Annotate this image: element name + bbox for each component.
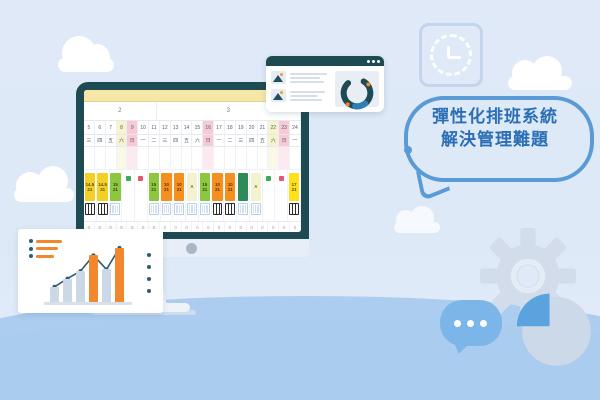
weekday-cell: 四 [171, 135, 182, 146]
shift-column[interactable]: 1721 [288, 170, 301, 221]
spacer-cell [268, 147, 279, 169]
empty-cell [126, 173, 131, 201]
window-dot-icon[interactable] [377, 60, 380, 63]
clock-minute-hand [448, 56, 461, 59]
shift-column[interactable]: 14.521 [84, 170, 97, 221]
spacer-cell [182, 147, 193, 169]
day-number-cell[interactable]: 23 [279, 121, 290, 134]
spacer-cell [258, 147, 269, 169]
shift-detail-block[interactable] [251, 203, 261, 215]
weekday-cell: 日 [279, 135, 290, 146]
weekday-cell: 二 [225, 135, 236, 146]
speech-line-1: 彈性化排班系統 [404, 106, 586, 129]
status-dot [138, 176, 143, 181]
shift-chip[interactable]: 1521 [149, 173, 159, 201]
empty-cell [266, 173, 271, 201]
shift-chip[interactable]: 1521 [110, 173, 120, 201]
spacer-cell [127, 147, 138, 169]
chat-bubble-icon [440, 300, 502, 346]
status-dot [266, 176, 271, 181]
spacer-cell [203, 147, 214, 169]
shift-detail-block[interactable] [98, 203, 108, 215]
day-number-cell[interactable]: 16 [203, 121, 214, 134]
spacer-cell [214, 147, 225, 169]
shift-column[interactable]: 1021 [224, 170, 237, 221]
footer-count-cell: 0 [225, 222, 236, 232]
weekday-cell: 六 [192, 135, 203, 146]
monitor-power-button[interactable] [186, 243, 197, 254]
weekday-cell: 日 [127, 135, 138, 146]
shift-chip[interactable]: 1521 [200, 173, 210, 201]
footer-count-cell: 0 [171, 222, 182, 232]
day-number-cell[interactable]: 22 [268, 121, 279, 134]
day-number-cell[interactable]: 11 [149, 121, 160, 134]
shift-column[interactable]: A [250, 170, 263, 221]
shift-detail-block[interactable] [85, 203, 95, 215]
day-number-cell[interactable]: 12 [160, 121, 171, 134]
pie-chart-icon [510, 285, 596, 371]
shift-chip[interactable]: A [251, 173, 261, 201]
image-icon [271, 71, 286, 84]
day-number-cell[interactable]: 14 [182, 121, 193, 134]
shift-chip[interactable]: 14.521 [97, 173, 107, 201]
status-dot [279, 176, 284, 181]
popup-window-card[interactable] [266, 56, 384, 112]
day-number-cell[interactable]: 24 [290, 121, 301, 134]
shift-column[interactable]: 1021 [161, 170, 174, 221]
spacer-cell [106, 147, 117, 169]
spacer-cell [171, 147, 182, 169]
schedule-day-number-row: 56789101112131415161718192021222324 [84, 121, 301, 135]
shift-chip[interactable]: 1021 [174, 173, 184, 201]
shift-detail-block[interactable] [225, 203, 235, 215]
chart-bar [50, 287, 59, 303]
month-group-1: 2 [84, 102, 157, 120]
bar-chart-card[interactable] [18, 229, 163, 313]
shift-detail-block[interactable] [174, 203, 184, 215]
spacer-cell [84, 147, 95, 169]
shift-chip[interactable]: 1021 [212, 173, 222, 201]
empty-cell [138, 173, 143, 201]
window-dot-icon[interactable] [372, 60, 375, 63]
list-item[interactable] [271, 71, 330, 84]
day-number-cell[interactable]: 20 [247, 121, 258, 134]
spacer-cell [290, 147, 301, 169]
day-number-cell[interactable]: 13 [171, 121, 182, 134]
popup-item-list [271, 71, 330, 107]
chart-bar [102, 269, 111, 303]
chart-bar [76, 271, 85, 303]
spacer-cell [138, 147, 149, 169]
spacer-cell [160, 147, 171, 169]
schedule-spacer-row [84, 147, 301, 170]
status-dot [126, 176, 131, 181]
shift-column[interactable]: 1021 [173, 170, 186, 221]
illustration-canvas: 彈性化排班系統 解決管理難題 2020/02 2 3 5678910111213… [0, 0, 600, 400]
bar-chart-plot [48, 245, 126, 303]
spacer-cell [149, 147, 160, 169]
weekday-cell: 三 [160, 135, 171, 146]
footer-count-cell: 0 [203, 222, 214, 232]
weekday-cell: 五 [182, 135, 193, 146]
weekday-cell: 五 [106, 135, 117, 146]
text-lines [290, 89, 330, 101]
day-number-cell[interactable]: 7 [106, 121, 117, 134]
weekday-cell: 六 [117, 135, 128, 146]
day-number-cell[interactable]: 15 [192, 121, 203, 134]
footer-count-cell: 0 [290, 222, 301, 232]
shift-chip[interactable]: 14.521 [85, 173, 95, 201]
chart-bar [89, 255, 98, 303]
list-item[interactable] [271, 89, 330, 102]
speech-line-2: 解決管理難題 [404, 129, 586, 152]
footer-count-cell: 0 [192, 222, 203, 232]
schedule-weekday-row: 三四五六日一二三四五六日一二三四五六日一 [84, 135, 301, 147]
clock-face [430, 34, 472, 76]
clock-icon [419, 23, 483, 87]
weekday-cell: 三 [236, 135, 247, 146]
weekday-cell: 六 [268, 135, 279, 146]
legend-bullet-icon [29, 239, 33, 243]
spacer-cell [236, 147, 247, 169]
day-number-cell[interactable]: 21 [258, 121, 269, 134]
shift-chip[interactable]: A [187, 173, 197, 201]
side-dot-icon [147, 265, 151, 269]
day-number-cell[interactable]: 19 [236, 121, 247, 134]
chart-side-dots [147, 253, 151, 293]
legend-bullet-icon [29, 247, 33, 251]
shift-detail-block[interactable] [149, 203, 159, 215]
shift-column[interactable]: 1521 [199, 170, 212, 221]
spacer-cell [279, 147, 290, 169]
shift-chip[interactable] [238, 173, 248, 201]
shift-column[interactable] [275, 170, 288, 221]
shift-column[interactable] [237, 170, 250, 221]
spacer-cell [247, 147, 258, 169]
shift-column[interactable]: 14.521 [97, 170, 110, 221]
legend-bullet-icon [29, 254, 33, 258]
chart-axis [44, 302, 132, 305]
day-number-cell[interactable]: 17 [214, 121, 225, 134]
day-number-cell[interactable]: 9 [127, 121, 138, 134]
weekday-cell: 一 [290, 135, 301, 146]
weekday-cell: 四 [247, 135, 258, 146]
side-dot-icon [147, 277, 151, 281]
weekday-cell: 四 [95, 135, 106, 146]
shift-detail-block[interactable] [289, 203, 299, 215]
day-number-cell[interactable]: 10 [138, 121, 149, 134]
spacer-cell [117, 147, 128, 169]
shift-column[interactable] [135, 170, 148, 221]
shift-column[interactable] [122, 170, 135, 221]
popup-titlebar [266, 56, 384, 66]
footer-count-cell: 0 [182, 222, 193, 232]
footer-count-cell: 0 [268, 222, 279, 232]
shift-column[interactable]: A [186, 170, 199, 221]
chart-bar [63, 279, 72, 303]
weekday-cell: 二 [149, 135, 160, 146]
day-number-cell[interactable]: 8 [117, 121, 128, 134]
footer-count-cell: 0 [236, 222, 247, 232]
image-icon [271, 89, 286, 102]
shift-detail-block[interactable] [238, 203, 248, 215]
shift-chip[interactable]: 1721 [289, 173, 299, 201]
shift-chip[interactable]: 1021 [225, 173, 235, 201]
footer-count-cell: 0 [214, 222, 225, 232]
footer-count-cell: 0 [247, 222, 258, 232]
spacer-cell [95, 147, 106, 169]
footer-count-cell: 0 [258, 222, 269, 232]
day-number-cell[interactable]: 5 [84, 121, 95, 134]
empty-cell [279, 173, 284, 201]
shift-column[interactable]: 1521 [110, 170, 123, 221]
shift-detail-block[interactable] [110, 203, 120, 215]
side-dot-icon [147, 289, 151, 293]
spacer-cell [192, 147, 203, 169]
day-number-cell[interactable]: 6 [95, 121, 106, 134]
spacer-cell [225, 147, 236, 169]
shift-column[interactable]: 1521 [148, 170, 161, 221]
shift-detail-block[interactable] [187, 203, 197, 215]
chart-bar [115, 248, 124, 303]
shift-chip[interactable]: 1021 [161, 173, 171, 201]
weekday-cell: 一 [138, 135, 149, 146]
day-number-cell[interactable]: 18 [225, 121, 236, 134]
weekday-cell: 一 [214, 135, 225, 146]
weekday-cell: 五 [258, 135, 269, 146]
speech-bubble-text: 彈性化排班系統 解決管理難題 [404, 106, 586, 152]
footer-count-cell: 0 [279, 222, 290, 232]
shift-detail-block[interactable] [213, 203, 223, 215]
shift-column[interactable] [263, 170, 276, 221]
popup-body [266, 66, 384, 112]
weekday-cell: 日 [203, 135, 214, 146]
donut-chart-panel [335, 71, 379, 107]
side-dot-icon [147, 253, 151, 257]
schedule-shift-grid[interactable]: 14.52114.5211521152110211021A15211021102… [84, 170, 301, 221]
shift-detail-block[interactable] [200, 203, 210, 215]
shift-column[interactable]: 1021 [212, 170, 225, 221]
text-lines [290, 71, 330, 83]
shift-detail-block[interactable] [162, 203, 172, 215]
weekday-cell: 三 [84, 135, 95, 146]
window-dot-icon[interactable] [367, 60, 370, 63]
